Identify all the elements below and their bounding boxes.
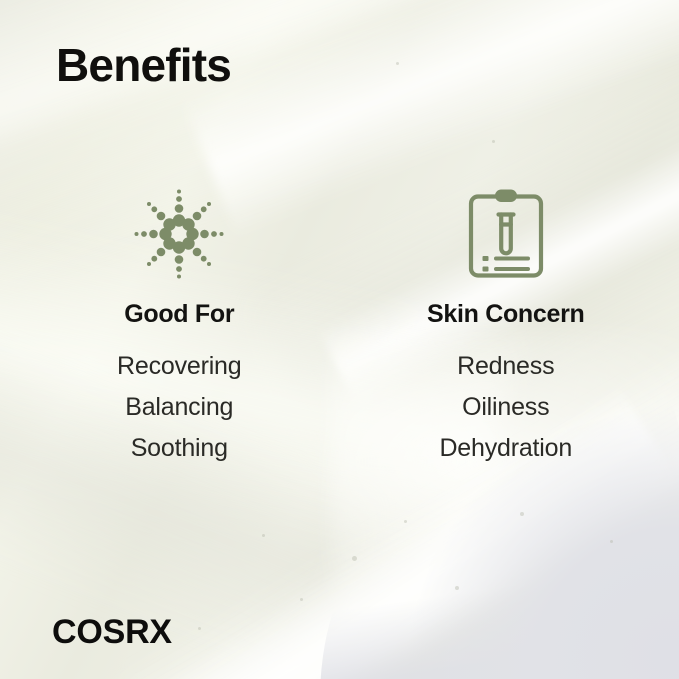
benefit-list: Redness Oiliness Dehydration — [439, 346, 572, 469]
list-item: Recovering — [117, 346, 241, 387]
benefit-list: Recovering Balancing Soothing — [117, 346, 241, 469]
clipboard-test-tube-icon — [458, 186, 554, 282]
list-item: Balancing — [125, 387, 233, 428]
benefit-column-skin-concern: Skin Concern Redness Oiliness Dehydratio… — [343, 186, 670, 469]
list-item: Dehydration — [439, 428, 572, 469]
sunburst-dots-icon — [131, 186, 227, 282]
column-heading: Good For — [124, 300, 234, 329]
benefit-column-good-for: Good For Recovering Balancing Soothing — [16, 186, 343, 469]
list-item: Redness — [457, 346, 554, 387]
column-heading: Skin Concern — [427, 300, 585, 329]
list-item: Soothing — [131, 428, 228, 469]
list-item: Oiliness — [462, 387, 549, 428]
page-title: Benefits — [56, 38, 231, 92]
benefits-columns: Good For Recovering Balancing Soothing — [0, 186, 679, 469]
brand-logo: COSRX — [52, 613, 172, 652]
benefits-infographic: Benefits — [0, 0, 679, 679]
